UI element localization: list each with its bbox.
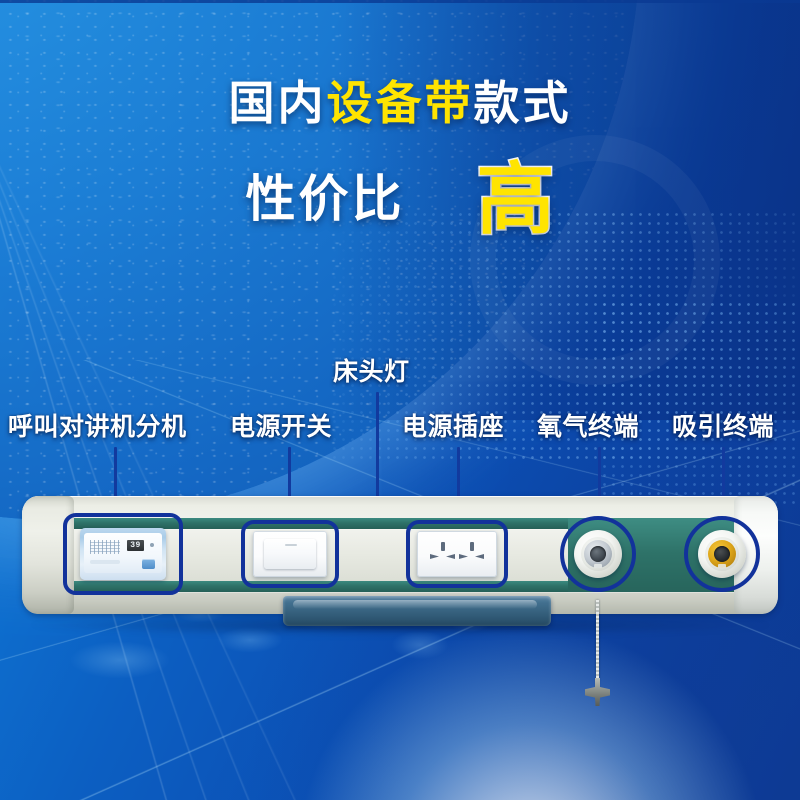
headline-text-accent: 设备带 bbox=[327, 77, 474, 129]
callout-label-power-socket: 电源插座 bbox=[402, 415, 504, 440]
highlight-circle-oxygen-terminal bbox=[560, 516, 636, 592]
callout-label-bed-lamp: 床头灯 bbox=[333, 360, 410, 385]
headline-emphasis: 高 bbox=[476, 160, 554, 238]
highlight-box-power-socket bbox=[406, 520, 508, 588]
headline-text-2: 性价比 bbox=[245, 174, 404, 224]
pull-cord[interactable] bbox=[596, 600, 599, 686]
top-edge-bar bbox=[0, 0, 800, 3]
headline-text-1a: 国内 bbox=[229, 77, 327, 129]
highlight-box-power-switch bbox=[241, 520, 339, 588]
callout-label-oxygen-terminal: 氧气终端 bbox=[537, 415, 639, 440]
product-banner: 国内设备带款式 性价比 高 呼叫对讲机分机 电源开关 床头灯 电源插座 氧气终端… bbox=[0, 0, 800, 800]
headline-text-1b: 款式 bbox=[474, 77, 572, 129]
horizon-glow bbox=[300, 630, 760, 800]
callout-label-power-switch: 电源开关 bbox=[230, 415, 332, 440]
highlight-box-intercom bbox=[63, 513, 183, 595]
callout-label-intercom: 呼叫对讲机分机 bbox=[8, 415, 187, 440]
callout-label-suction-terminal: 吸引终端 bbox=[672, 415, 774, 440]
headline-block: 国内设备带款式 bbox=[0, 80, 800, 126]
headline-line-2: 性价比 高 bbox=[0, 160, 800, 238]
highlight-circle-suction-terminal bbox=[684, 516, 760, 592]
bed-lamp-diffuser[interactable] bbox=[283, 596, 551, 626]
lamp-gloss-highlight bbox=[293, 600, 537, 609]
headline-line-1: 国内设备带款式 bbox=[0, 80, 800, 126]
